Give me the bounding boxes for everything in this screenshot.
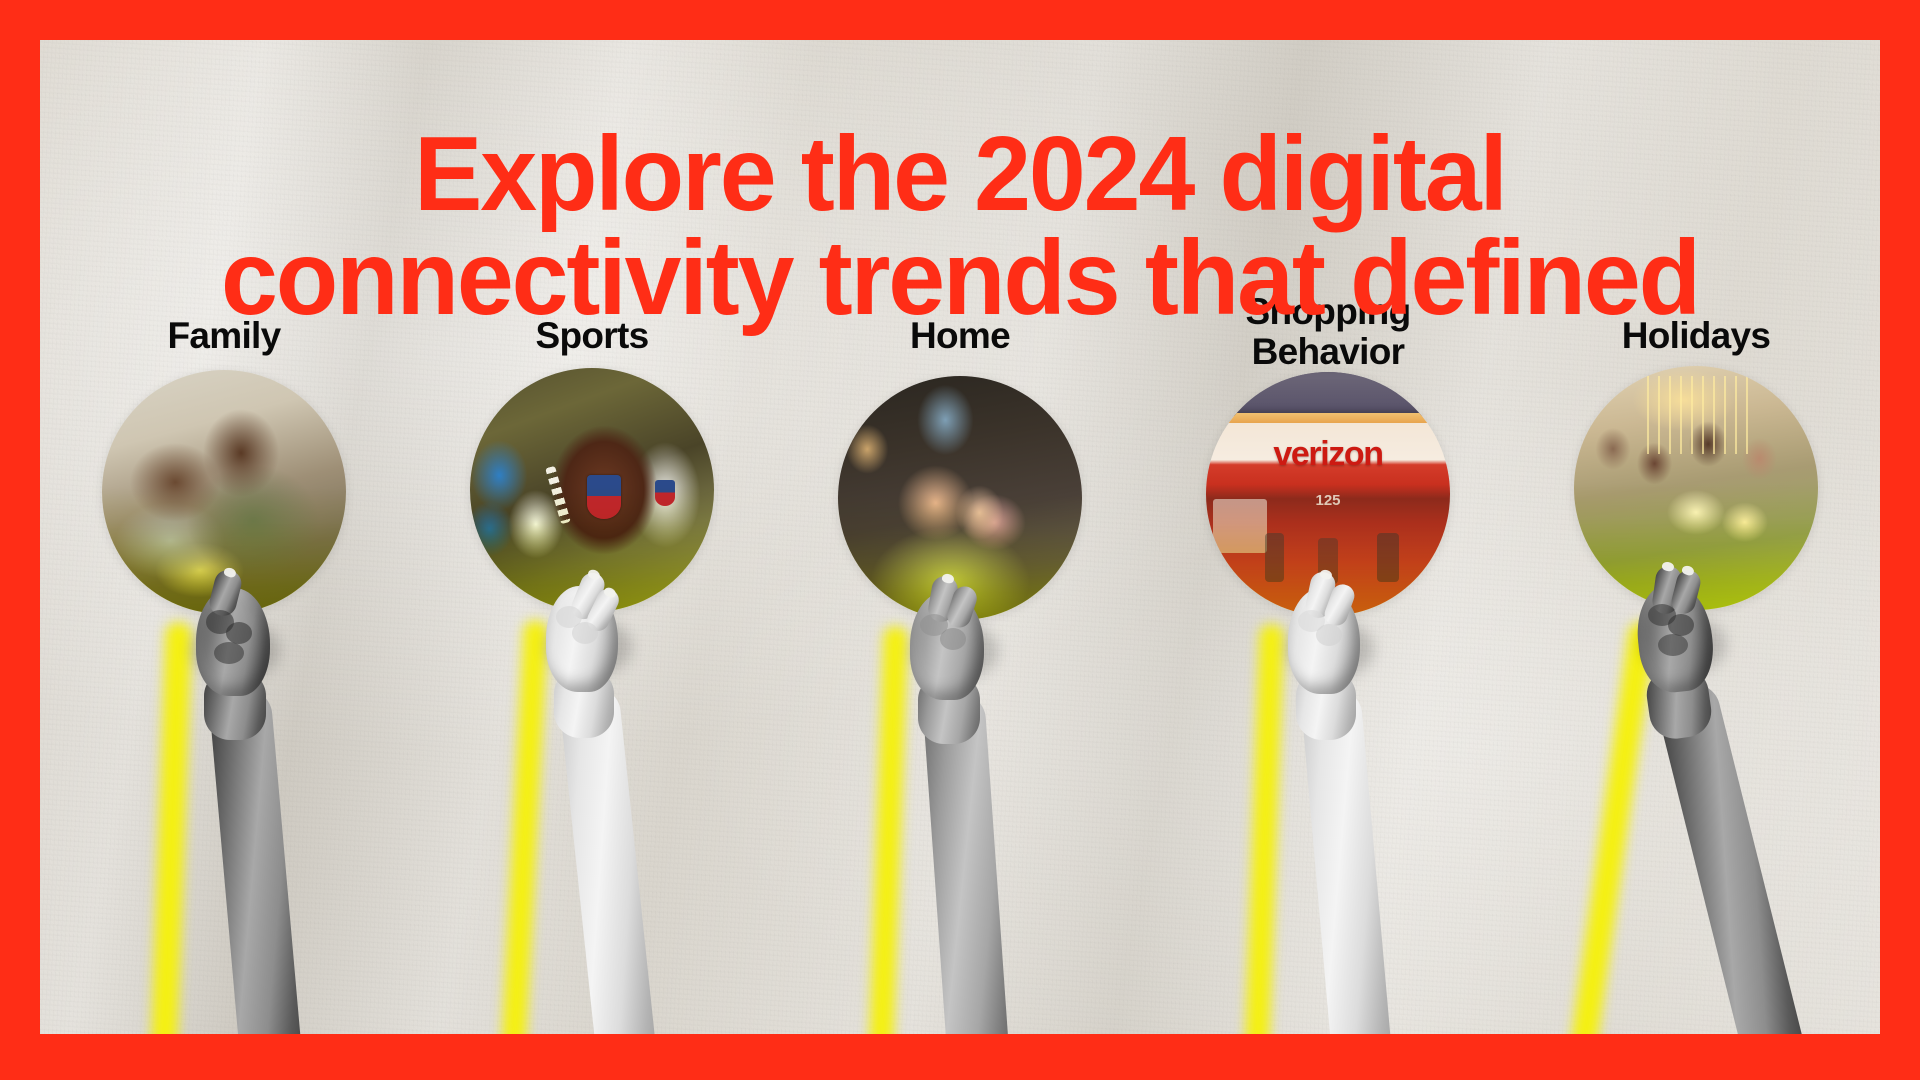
yellow-glow-icon (150, 622, 192, 1080)
category-photo-shopping-behavior[interactable]: verizon 125 (1206, 372, 1450, 616)
frame-border-top (0, 0, 1920, 40)
circular-photo-icon (1574, 366, 1818, 610)
category-column-home[interactable]: Home (776, 270, 1144, 1080)
circular-photo-icon (470, 368, 714, 612)
yellow-gradient-overlay (1574, 366, 1818, 610)
poster-canvas: Explore the 2024 digital connectivity tr… (0, 0, 1920, 1080)
category-photo-home[interactable] (838, 376, 1082, 620)
yellow-glow-icon (500, 620, 548, 1080)
category-column-shopping-behavior[interactable]: Shopping Behavior verizon 125 (1144, 270, 1512, 1080)
category-photo-sports[interactable] (470, 368, 714, 612)
frame-border-left (0, 0, 40, 1080)
circular-photo-icon (102, 370, 346, 614)
yellow-gradient-overlay (1206, 372, 1450, 616)
page-title: Explore the 2024 digital connectivity tr… (72, 123, 1848, 331)
yellow-gradient-overlay (470, 368, 714, 612)
circular-photo-icon (838, 376, 1082, 620)
frame-border-bottom (0, 1034, 1920, 1080)
yellow-glow-icon (1244, 624, 1284, 1080)
category-column-sports[interactable]: Sports (408, 270, 776, 1080)
yellow-gradient-overlay (838, 376, 1082, 620)
category-column-holidays[interactable]: Holidays (1512, 270, 1880, 1080)
headline-line-2: connectivity trends that defined (72, 227, 1848, 331)
category-row: Family (40, 270, 1880, 1080)
yellow-glow-icon (868, 626, 908, 1080)
frame-border-right (1880, 0, 1920, 1080)
category-photo-holidays[interactable] (1574, 366, 1818, 610)
headline-line-1: Explore the 2024 digital (72, 123, 1848, 227)
yellow-gradient-overlay (102, 370, 346, 614)
category-column-family[interactable]: Family (40, 270, 408, 1080)
category-photo-family[interactable] (102, 370, 346, 614)
paper-background: Explore the 2024 digital connectivity tr… (40, 40, 1880, 1080)
yellow-glow-icon (1566, 620, 1656, 1080)
circular-photo-icon: verizon 125 (1206, 372, 1450, 616)
